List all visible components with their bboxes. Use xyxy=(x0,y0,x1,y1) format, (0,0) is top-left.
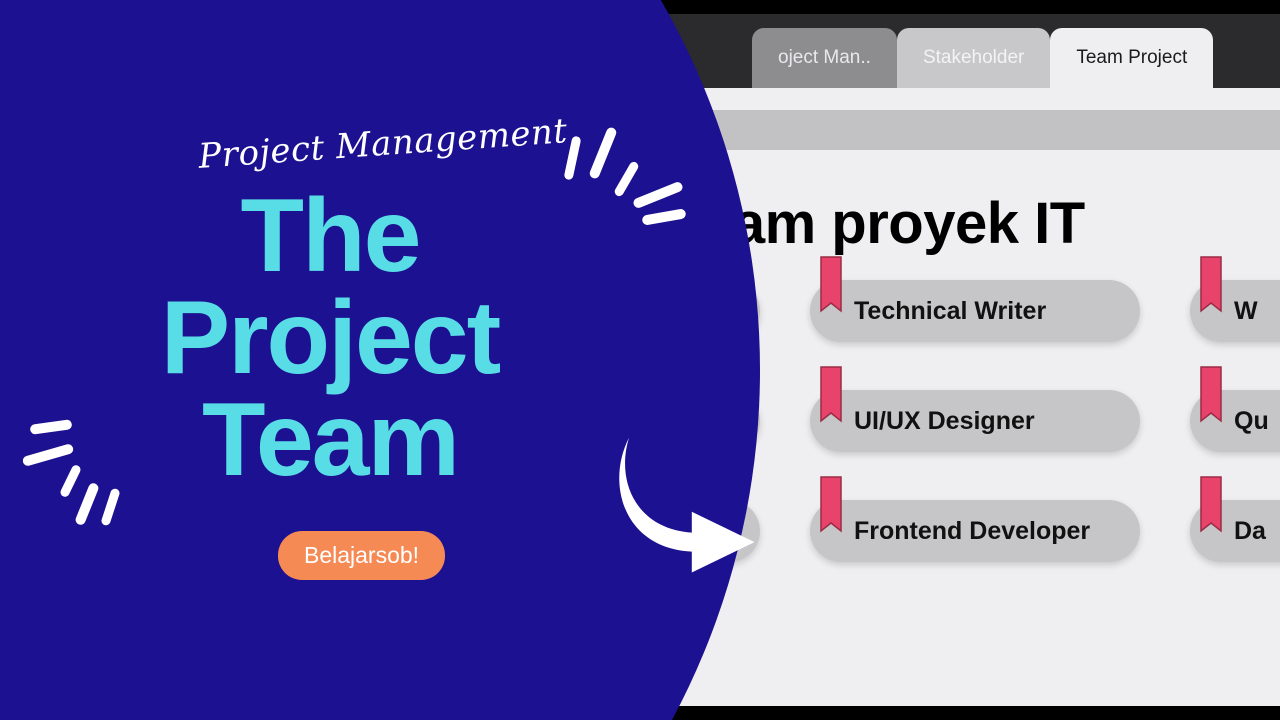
role-pill[interactable]: UI/UX Designer xyxy=(810,390,1140,452)
bookmark-ribbon-icon xyxy=(820,256,842,318)
role-pill[interactable]: Da xyxy=(1190,500,1280,562)
sparkle-burst-left-icon xyxy=(18,408,148,533)
role-pill[interactable]: Technical Writer xyxy=(810,280,1140,342)
role-label: Qu xyxy=(1234,407,1269,436)
role-label: Frontend Developer xyxy=(854,517,1090,546)
bookmark-ribbon-icon xyxy=(820,476,842,538)
tab-team-project[interactable]: Team Project xyxy=(1050,28,1213,88)
bookmark-ribbon-icon xyxy=(1200,256,1222,318)
bookmark-ribbon-icon xyxy=(820,366,842,428)
role-label: Technical Writer xyxy=(854,297,1046,326)
role-pill[interactable]: Qu xyxy=(1190,390,1280,452)
hero-section: Project Management The Project Team Bela… xyxy=(0,0,660,720)
hero-eyebrow: Project Management xyxy=(197,111,569,177)
role-label: UI/UX Designer xyxy=(854,407,1035,436)
role-pill[interactable]: Frontend Developer xyxy=(810,500,1140,562)
role-label: W xyxy=(1234,297,1258,326)
tab-label: Stakeholder xyxy=(923,47,1024,69)
bookmark-ribbon-icon xyxy=(1200,476,1222,538)
role-pill[interactable]: W xyxy=(1190,280,1280,342)
hero-title-line-2: Project xyxy=(0,288,660,390)
bookmark-ribbon-icon xyxy=(1200,366,1222,428)
tab-label: Team Project xyxy=(1076,47,1187,69)
tab-project-management[interactable]: oject Man.. xyxy=(752,28,897,88)
role-label: Da xyxy=(1234,517,1266,546)
sparkle-burst-top-icon xyxy=(560,118,690,228)
tab-stakeholder[interactable]: Stakeholder xyxy=(897,28,1050,88)
curved-arrow-icon xyxy=(612,438,782,578)
hero-badge[interactable]: Belajarsob! xyxy=(278,531,445,580)
tab-label: oject Man.. xyxy=(778,47,871,69)
